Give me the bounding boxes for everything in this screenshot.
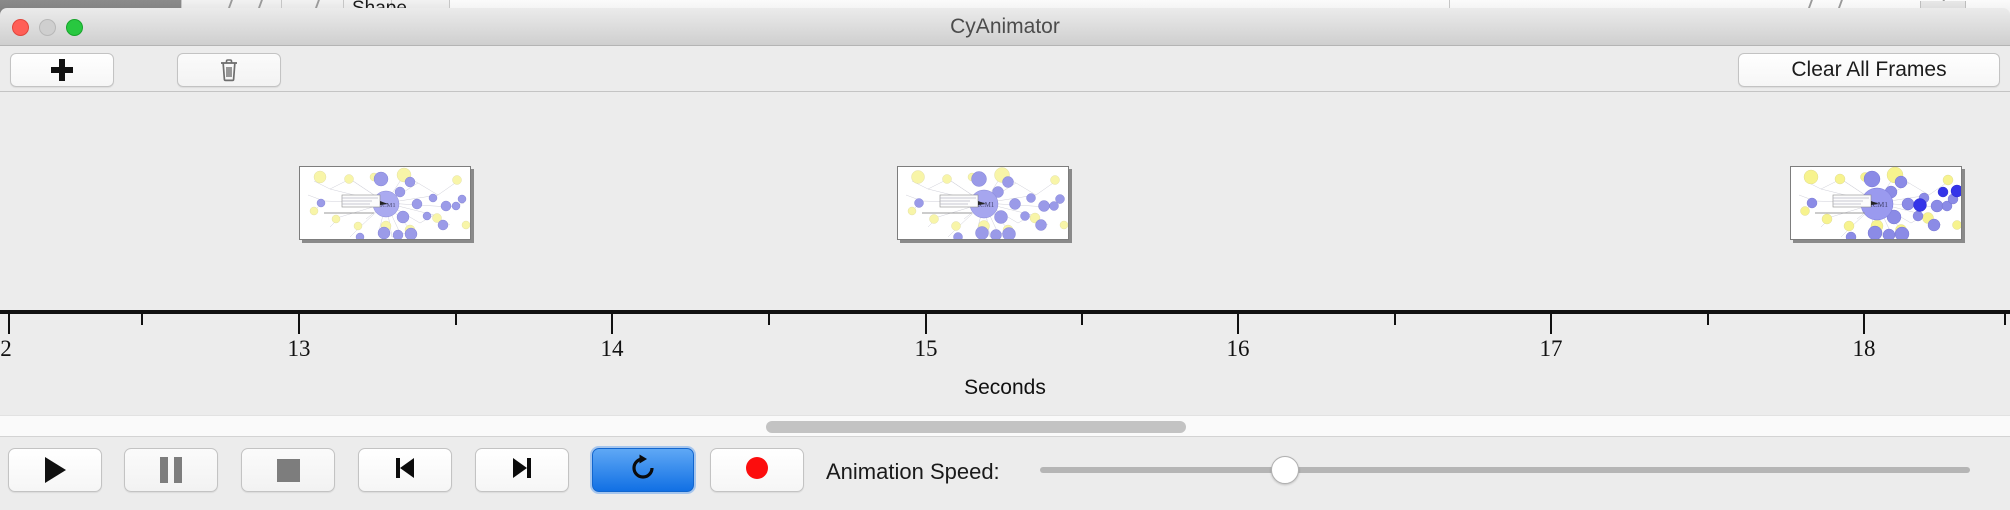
axis-title-seconds: Seconds bbox=[0, 376, 2010, 400]
skip-back-icon bbox=[392, 455, 418, 486]
axis-tick-minor bbox=[1394, 314, 1396, 325]
axis-tick-minor bbox=[141, 314, 143, 325]
axis-tick-major bbox=[611, 314, 613, 334]
timeline-panel[interactable]: MCM1 bbox=[0, 92, 2010, 420]
axis-tick-major bbox=[925, 314, 927, 334]
axis-tick-minor bbox=[1081, 314, 1083, 325]
animation-speed-slider[interactable] bbox=[1040, 467, 1970, 473]
animation-speed-slider-thumb[interactable] bbox=[1271, 456, 1299, 484]
skip-to-end-button[interactable] bbox=[475, 448, 569, 492]
axis-tick-major bbox=[8, 314, 10, 334]
loop-button[interactable] bbox=[592, 448, 694, 492]
axis-tick-label: 14 bbox=[601, 336, 624, 362]
frames-track[interactable]: MCM1 bbox=[0, 92, 2010, 312]
timeline-scrollbar[interactable] bbox=[0, 415, 2010, 437]
skip-to-start-button[interactable] bbox=[358, 448, 452, 492]
stop-icon bbox=[277, 459, 300, 482]
add-frame-button[interactable] bbox=[10, 53, 114, 87]
axis-tick-major bbox=[1550, 314, 1552, 334]
axis-tick-minor bbox=[2004, 314, 2006, 325]
delete-frame-button[interactable] bbox=[177, 53, 281, 87]
clear-all-frames-label: Clear All Frames bbox=[1791, 58, 1946, 82]
cyanimator-window: Shape CyAnimator Clear bbox=[0, 0, 2010, 510]
frame-toolbar: Clear All Frames bbox=[0, 46, 2010, 92]
axis-tick-minor bbox=[455, 314, 457, 325]
axis-tick-major bbox=[1863, 314, 1865, 334]
axis-tick-label: 16 bbox=[1227, 336, 1250, 362]
scrollbar-thumb[interactable] bbox=[766, 421, 1186, 433]
skip-forward-icon bbox=[509, 455, 535, 486]
playback-toolbar: Animation Speed: bbox=[0, 438, 2010, 510]
pause-button[interactable] bbox=[124, 448, 218, 492]
axis-tick-major bbox=[1237, 314, 1239, 334]
axis-tick-label: 15 bbox=[915, 336, 938, 362]
title-bar: CyAnimator bbox=[0, 8, 2010, 46]
window-title: CyAnimator bbox=[0, 8, 2010, 46]
loop-icon bbox=[628, 453, 658, 488]
axis-tick-major bbox=[298, 314, 300, 334]
animation-speed-label: Animation Speed: bbox=[826, 459, 1000, 485]
trash-icon bbox=[219, 58, 239, 82]
frame-thumbnail[interactable]: MCM1 bbox=[299, 166, 471, 240]
clear-all-frames-button[interactable]: Clear All Frames bbox=[1738, 53, 2000, 87]
frame-thumbnail[interactable]: MCM1 bbox=[897, 166, 1069, 240]
play-icon bbox=[45, 457, 66, 483]
pause-icon bbox=[160, 457, 182, 483]
frame-thumbnail[interactable]: MCM1 bbox=[1790, 166, 1962, 240]
stop-button[interactable] bbox=[241, 448, 335, 492]
axis-tick-label: 17 bbox=[1540, 336, 1563, 362]
axis-tick-label: 13 bbox=[288, 336, 311, 362]
axis-tick-label: 2 bbox=[0, 336, 12, 362]
record-icon bbox=[744, 455, 770, 486]
plus-icon bbox=[51, 59, 73, 81]
axis-tick-minor bbox=[768, 314, 770, 325]
axis-tick-minor bbox=[1707, 314, 1709, 325]
axis-tick-label: 18 bbox=[1853, 336, 1876, 362]
record-button[interactable] bbox=[710, 448, 804, 492]
play-button[interactable] bbox=[8, 448, 102, 492]
